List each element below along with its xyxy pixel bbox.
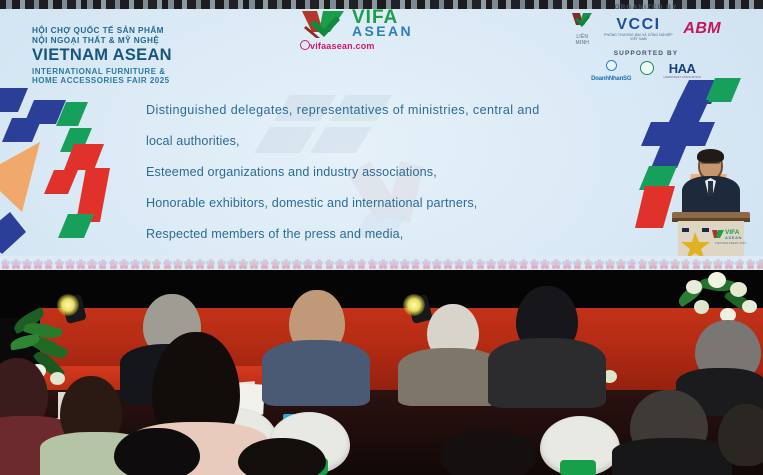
flower-motif xyxy=(410,258,421,271)
decor-left-motif xyxy=(0,82,127,262)
flower-motif xyxy=(669,258,680,271)
sponsor-abm-name: ABM xyxy=(683,21,721,37)
flower-motif xyxy=(162,258,173,271)
flower-motif xyxy=(486,258,497,271)
sponsor-haa-name: HAA xyxy=(663,62,701,75)
speaker-at-podium: VIFA ASEAN VIETNAM ASEAN 2025 xyxy=(676,150,746,270)
flower-motif xyxy=(702,258,713,271)
sponsor-vcci-name: VCCI xyxy=(603,17,675,33)
flower-motif xyxy=(637,258,648,271)
flower-motif xyxy=(453,258,464,271)
vifa-url: vifaasean.com xyxy=(310,41,375,51)
flower-motif xyxy=(173,258,184,271)
flower-motif xyxy=(238,258,249,271)
projection-screen: HỘI CHỢ QUỐC TẾ SẢN PHẨM NỘI NGOẠI THẤT … xyxy=(0,0,763,270)
flower-motif xyxy=(281,258,292,271)
fair-logo-title: VIETNAM ASEAN xyxy=(32,47,192,64)
audience-body-3 xyxy=(398,348,502,406)
slide-line-2: local authorities, xyxy=(146,126,596,157)
flower-motif xyxy=(335,258,346,271)
slide-line-5: Respected members of the press and media… xyxy=(146,219,596,250)
flower-motif xyxy=(313,258,324,271)
flower-motif xyxy=(367,258,378,271)
floral-strip xyxy=(0,256,763,270)
flower-motif xyxy=(184,258,195,271)
flower-motif xyxy=(97,258,108,271)
vifa-asean-logo: VIFA ASEAN vifaasean.com xyxy=(300,6,475,54)
flower-motif xyxy=(378,258,389,271)
doanhnhan-icon xyxy=(606,60,617,71)
supported-by-caption: SUPPORTED BY xyxy=(571,50,721,57)
flower-motif xyxy=(205,258,216,271)
flower-motif xyxy=(356,258,367,271)
flower-motif xyxy=(691,258,702,271)
asean-word: ASEAN xyxy=(352,24,413,38)
flower-motif xyxy=(464,258,475,271)
hawa-icon xyxy=(640,61,654,75)
organized-by-caption: ORGANIZED BY xyxy=(571,4,721,11)
floral-border-band xyxy=(0,256,763,270)
lectern-sub: VIETNAM ASEAN 2025 xyxy=(715,242,746,245)
fair-logo-line3: INTERNATIONAL FURNITURE & xyxy=(32,67,192,76)
flower-motif xyxy=(518,258,529,271)
audience-hall xyxy=(0,270,763,475)
flower-motif xyxy=(227,258,238,271)
flower-motif xyxy=(615,258,626,271)
fair-logo-line2: NỘI NGOẠI THẤT & MỸ NGHỆ xyxy=(32,36,192,46)
audience-front-person-7 xyxy=(718,404,763,466)
sponsor-doanhnhan-name: DoanhNhanSG xyxy=(591,76,631,82)
flower-motif xyxy=(54,258,65,271)
fair-logo-line1: HỘI CHỢ QUỐC TẾ SẢN PHẨM xyxy=(32,26,192,36)
chair-sash-3 xyxy=(560,460,596,475)
flower-motif xyxy=(399,258,410,271)
sponsor-haa: HAA HANDICRAFT ASSOCIATION xyxy=(663,62,701,79)
flower-motif xyxy=(572,258,583,271)
slide-line-4: Honorable exhibitors, domestic and inter… xyxy=(146,188,596,219)
vifa-leaf-icon xyxy=(300,8,346,40)
fair-logo-lockup: HỘI CHỢ QUỐC TẾ SẢN PHẨM NỘI NGOẠI THẤT … xyxy=(32,26,192,86)
sponsor-lienminh-name: LIÊN MINH xyxy=(571,34,594,46)
flower-motif xyxy=(734,258,745,271)
flower-motif xyxy=(626,258,637,271)
flower-motif xyxy=(421,258,432,271)
organized-by-row: LIÊN MINH VCCI PHÒNG THƯƠNG MẠI VÀ CÔNG … xyxy=(571,12,721,46)
sponsor-block: ORGANIZED BY LIÊN MINH VCCI PHÒNG THƯƠNG… xyxy=(571,4,721,82)
flower-motif xyxy=(76,258,87,271)
lienminh-icon xyxy=(571,12,593,28)
audience-front-person-3 xyxy=(114,428,200,475)
flower-motif xyxy=(302,258,313,271)
flower-motif xyxy=(583,258,594,271)
audience-front-body-6 xyxy=(612,438,732,475)
flower-motif xyxy=(248,258,259,271)
flower-motif xyxy=(497,258,508,271)
flower-motif xyxy=(540,258,551,271)
flower-motif xyxy=(389,258,400,271)
slide-line-3: Esteemed organizations and industry asso… xyxy=(146,157,596,188)
flower-motif xyxy=(594,258,605,271)
flower-motif xyxy=(11,258,22,271)
flower-motif xyxy=(432,258,443,271)
flower-motif xyxy=(140,258,151,271)
flower-motif xyxy=(86,258,97,271)
flower-motif xyxy=(0,258,11,271)
flower-motif xyxy=(270,258,281,271)
slide-text-block: Distinguished delegates, representatives… xyxy=(146,95,596,250)
flower-motif xyxy=(22,258,33,271)
flower-motif xyxy=(119,258,130,271)
flower-motif xyxy=(745,258,756,271)
sponsor-vcci-sub: PHÒNG THƯƠNG MẠI VÀ CÔNG NGHIỆP VIỆT NAM xyxy=(603,33,675,41)
flower-motif xyxy=(130,258,141,271)
flower-motif xyxy=(43,258,54,271)
flower-motif xyxy=(108,258,119,271)
flower-motif xyxy=(756,258,763,271)
flower-motif xyxy=(507,258,518,271)
flower-motif xyxy=(529,258,540,271)
flower-motif xyxy=(723,258,734,271)
flower-motif xyxy=(605,258,616,271)
audience-body-2 xyxy=(262,340,370,406)
flower-motif xyxy=(680,258,691,271)
sponsor-vcci: VCCI PHÒNG THƯƠNG MẠI VÀ CÔNG NGHIỆP VIỆ… xyxy=(603,17,675,41)
flower-motif xyxy=(32,258,43,271)
lectern-asean-word: ASEAN xyxy=(725,236,742,240)
flower-motif xyxy=(194,258,205,271)
lectern-vifa-icon xyxy=(712,230,724,241)
flower-motif xyxy=(292,258,303,271)
audience-body-4 xyxy=(488,338,606,408)
sponsor-doanhnhan: DoanhNhanSG xyxy=(591,58,631,82)
flower-motif xyxy=(659,258,670,271)
flower-motif xyxy=(151,258,162,271)
flower-motif xyxy=(551,258,562,271)
flower-motif xyxy=(475,258,486,271)
audience-front-person-5 xyxy=(440,430,536,475)
screenshot-root: HỘI CHỢ QUỐC TẾ SẢN PHẨM NỘI NGOẠI THẤT … xyxy=(0,0,763,475)
flower-motif xyxy=(648,258,659,271)
sponsor-lienminh: LIÊN MINH xyxy=(571,12,594,46)
flower-motif xyxy=(324,258,335,271)
flower-motif xyxy=(65,258,76,271)
sponsor-abm: ABM xyxy=(683,21,721,37)
flower-motif xyxy=(561,258,572,271)
flower-motif xyxy=(216,258,227,271)
sponsor-hawa xyxy=(640,61,654,80)
globe-icon xyxy=(300,40,310,50)
flower-motif xyxy=(346,258,357,271)
flower-motif xyxy=(443,258,454,271)
flower-motif xyxy=(259,258,270,271)
slide-line-1: Distinguished delegates, representatives… xyxy=(146,95,596,126)
flower-motif xyxy=(713,258,724,271)
